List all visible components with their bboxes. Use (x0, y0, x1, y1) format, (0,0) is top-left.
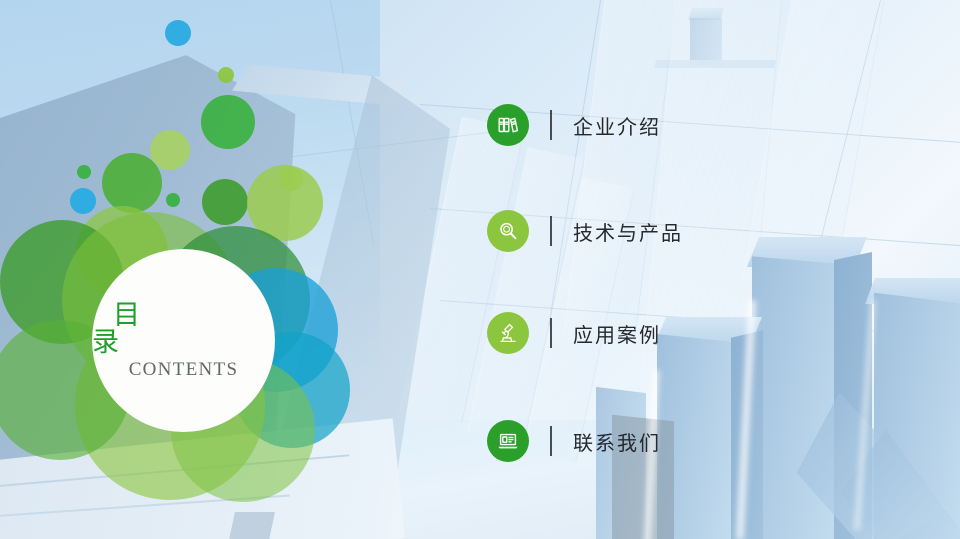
menu-item-4[interactable]: 联系我们 (487, 418, 661, 464)
decor-bubble (102, 153, 162, 213)
laptop-icon[interactable] (487, 420, 529, 462)
decor-bubble (201, 95, 255, 149)
decor-bubble (202, 179, 248, 225)
menu-item-divider (550, 318, 552, 348)
menu-item-3[interactable]: 应用案例 (487, 310, 661, 356)
menu-item-label[interactable]: 应用案例 (573, 319, 661, 348)
microscope-icon[interactable] (487, 312, 529, 354)
floor-notch (229, 512, 275, 539)
contents-menu: 企业介绍 技术与产品 应用案例 联系我们 (487, 0, 907, 539)
menu-item-divider (550, 426, 552, 456)
menu-item-label[interactable]: 技术与产品 (573, 217, 683, 246)
decor-bubble (218, 67, 234, 83)
menu-item-1[interactable]: 企业介绍 (487, 102, 661, 148)
decor-bubble (77, 165, 91, 179)
decor-bubble (70, 188, 96, 214)
menu-item-2[interactable]: 技术与产品 (487, 208, 683, 254)
menu-item-divider (550, 216, 552, 246)
menu-item-divider (550, 110, 552, 140)
magnifier-icon[interactable] (487, 210, 529, 252)
contents-title-en: CONTENTS (129, 360, 239, 379)
contents-circle: 目 录 CONTENTS (92, 249, 275, 432)
decor-bubble (166, 193, 180, 207)
presentation-slide: 目 录 CONTENTS 企业介绍 技术与产品 应用案例 联系我们 (0, 0, 960, 539)
contents-title-cn: 目 录 (92, 302, 275, 356)
menu-item-label[interactable]: 联系我们 (573, 427, 661, 456)
decor-bubble (165, 20, 191, 46)
books-binders-icon[interactable] (487, 104, 529, 146)
menu-item-label[interactable]: 企业介绍 (573, 111, 661, 140)
